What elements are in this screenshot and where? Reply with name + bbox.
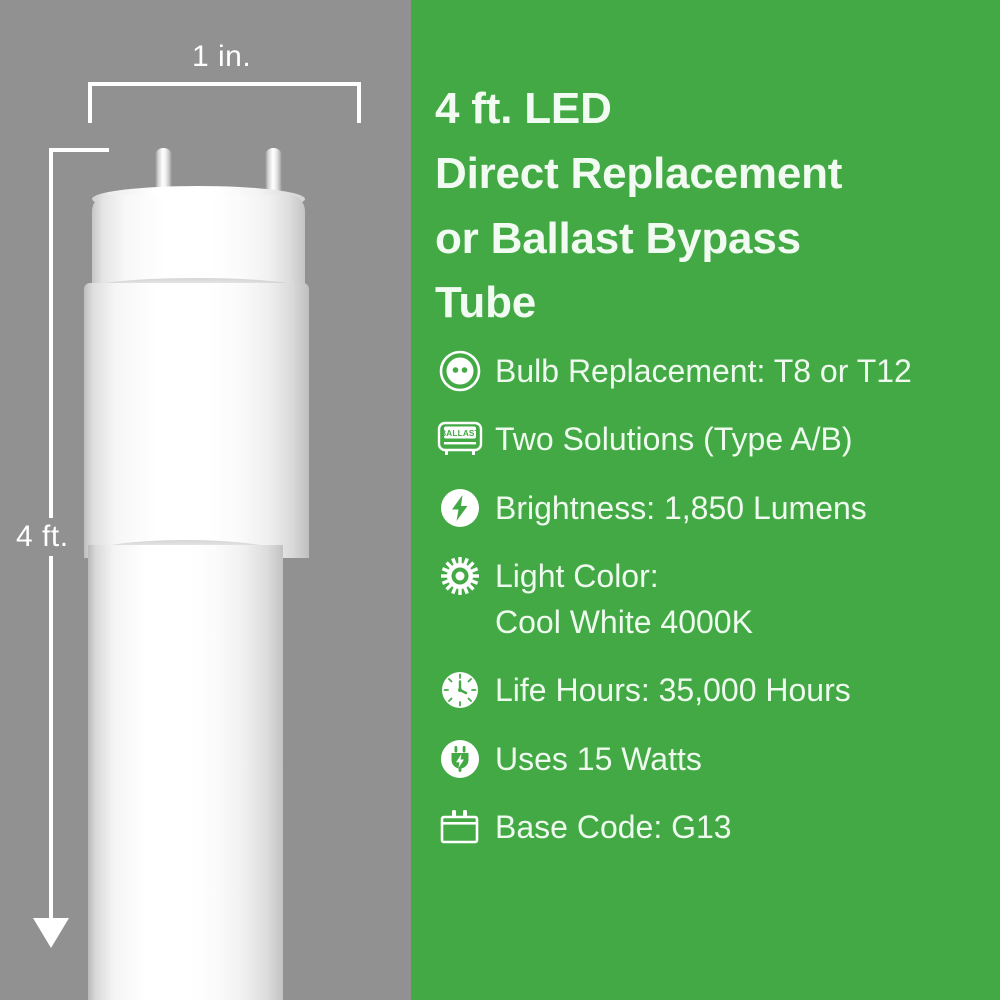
list-item-label: Uses 15 Watts [495,736,702,782]
svg-text:BALLAST: BALLAST [440,429,480,438]
headline-line-3: or Ballast Bypass [435,207,991,272]
width-bracket-bar [88,82,361,86]
feature-list: Bulb Replacement: T8 or T12 BALLAST Two … [437,348,997,873]
list-item-label: Life Hours: 35,000 Hours [495,667,851,713]
product-infographic: 1 in. 4 ft. 4 ft. LED Direct Replacement… [0,0,1000,1000]
bulb-socket-icon [437,348,483,394]
lightning-bolt-icon [437,485,483,531]
list-item: Light Color: Cool White 4000K [437,553,997,645]
list-item: Life Hours: 35,000 Hours [437,667,997,713]
headline-line-2: Direct Replacement [435,142,991,207]
list-item-label: Light Color: Cool White 4000K [495,553,753,645]
list-item-label: Brightness: 1,850 Lumens [495,485,867,531]
product-dimension-panel: 1 in. 4 ft. [0,0,411,1000]
ballast-icon: BALLAST [437,416,483,462]
list-item: Brightness: 1,850 Lumens [437,485,997,531]
clock-icon [437,667,483,713]
sun-burst-icon [437,553,483,599]
lamp-base-icon [437,804,483,850]
list-item-label: Two Solutions (Type A/B) [495,416,853,462]
headline-line-4: Tube [435,271,991,336]
power-plug-icon [437,736,483,782]
list-item-label: Bulb Replacement: T8 or T12 [495,348,912,394]
list-item: Bulb Replacement: T8 or T12 [437,348,997,394]
product-info-panel: 4 ft. LED Direct Replacement or Ballast … [411,0,1000,1000]
tube-body [88,545,283,1000]
width-bracket-right-tick [357,82,361,123]
width-dimension-label: 1 in. [192,40,251,74]
height-top-tick [49,148,109,152]
headline-line-1: 4 ft. LED [435,77,991,142]
list-item: BALLAST Two Solutions (Type A/B) [437,416,997,462]
tube-upper-section [84,283,309,558]
list-item-label: Base Code: G13 [495,804,732,850]
height-arrow-icon [33,918,69,948]
list-item: Uses 15 Watts [437,736,997,782]
width-bracket-left-tick [88,82,92,123]
list-item: Base Code: G13 [437,804,997,850]
height-dimension-label: 4 ft. [12,518,73,556]
page-title: 4 ft. LED Direct Replacement or Ballast … [435,77,991,336]
